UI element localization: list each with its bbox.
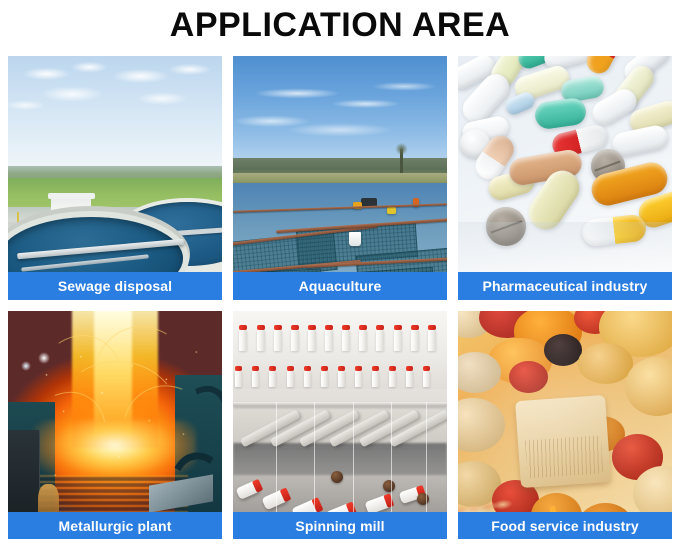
yarn-cone: [325, 329, 333, 351]
yarn-cone: [428, 329, 436, 351]
yarn-cone: [394, 329, 402, 351]
capsule: [583, 56, 625, 78]
control-panel: [8, 430, 40, 517]
gallery-caption-aquaculture: Aquaculture: [233, 272, 447, 300]
gallery-card-pharmaceutical-industry[interactable]: Pharmaceutical industry: [458, 56, 672, 300]
machine-shadow-band: [233, 443, 447, 475]
yarn-cone: [411, 329, 419, 351]
yarn-cone: [342, 329, 350, 351]
pharmaceutical-pills-photo: [458, 56, 672, 300]
sewage-treatment-plant-photo: [8, 56, 222, 300]
sky-clouds: [8, 56, 222, 168]
yarn-cone: [423, 370, 430, 387]
gallery-card-food-service-industry[interactable]: Food service industry: [458, 311, 672, 539]
aquaculture-fish-farm-photo: [233, 56, 447, 300]
food-service-industry-photo: [458, 311, 672, 539]
yarn-cone: [338, 370, 345, 387]
yarn-cone: [355, 370, 362, 387]
wooden-spool: [331, 471, 343, 483]
yarn-cone: [321, 370, 328, 387]
capsule: [533, 96, 588, 130]
yarn-cone: [257, 329, 265, 351]
wooden-spool: [383, 480, 395, 492]
lone-tree: [400, 149, 403, 173]
yarn-cone: [274, 329, 282, 351]
capsule: [503, 90, 537, 118]
yarn-cone: [235, 370, 242, 387]
yarn-cone: [239, 329, 247, 351]
machine-cross-beam: [233, 402, 447, 406]
yarn-cone: [291, 329, 299, 351]
application-gallery-grid: Sewage disposal: [8, 56, 672, 539]
buoy-marker: [387, 207, 396, 214]
work-lamp: [38, 352, 50, 364]
photo-sheen: [458, 311, 672, 539]
white-bucket: [349, 232, 361, 246]
yarn-cone: [304, 370, 311, 387]
gallery-caption-spinning-mill: Spinning mill: [233, 512, 447, 539]
gallery-card-aquaculture[interactable]: Aquaculture: [233, 56, 447, 300]
gallery-caption-sewage-disposal: Sewage disposal: [8, 272, 222, 300]
gallery-caption-metallurgic-plant: Metallurgic plant: [8, 512, 222, 539]
yarn-cone: [389, 370, 396, 387]
gallery-caption-food-service-industry: Food service industry: [458, 512, 672, 539]
yarn-cone: [376, 329, 384, 351]
yarn-cone: [372, 370, 379, 387]
metallurgic-plant-photo: [8, 311, 222, 539]
surface-shadow: [458, 222, 672, 276]
gallery-card-metallurgic-plant[interactable]: Metallurgic plant: [8, 311, 222, 539]
gallery-caption-pharmaceutical-industry: Pharmaceutical industry: [458, 272, 672, 300]
gallery-card-spinning-mill[interactable]: Spinning mill: [233, 311, 447, 539]
yarn-cone: [252, 370, 259, 387]
gallery-card-sewage-disposal[interactable]: Sewage disposal: [8, 56, 222, 300]
yarn-cone: [287, 370, 294, 387]
application-area-page: APPLICATION AREA Sewage disposal: [0, 0, 680, 551]
sky-clouds: [233, 76, 447, 164]
yarn-cone: [308, 329, 316, 351]
yarn-cone: [406, 370, 413, 387]
work-lamp: [21, 361, 31, 371]
yarn-cone: [269, 370, 276, 387]
yarn-cone: [359, 329, 367, 351]
spinning-mill-photo: [233, 311, 447, 539]
page-title: APPLICATION AREA: [0, 4, 680, 46]
